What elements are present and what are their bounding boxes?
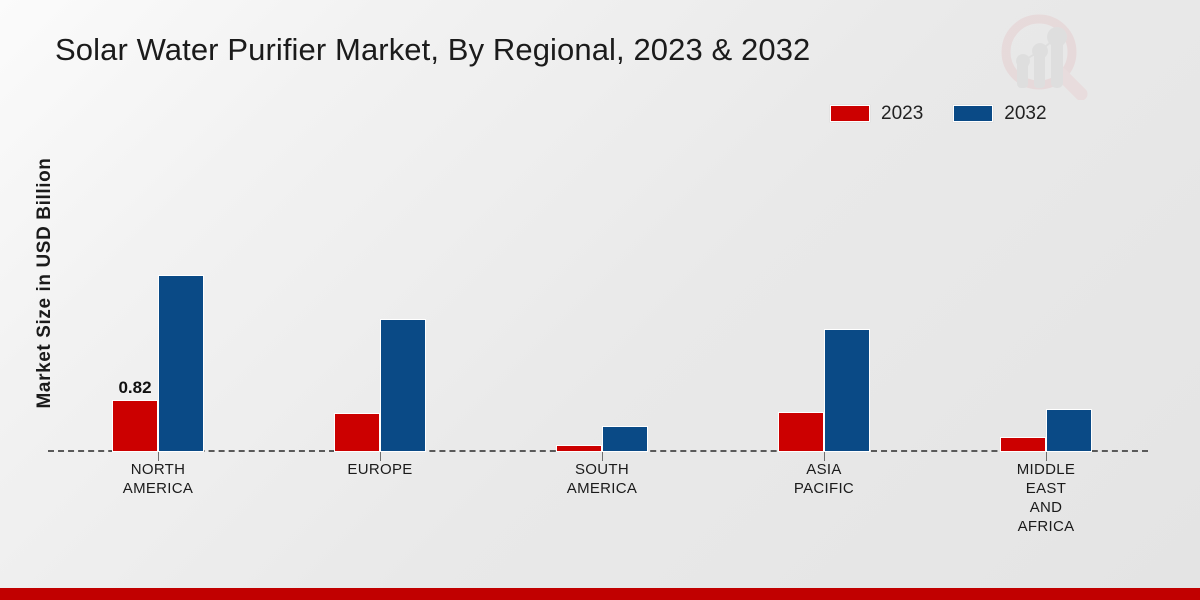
legend-item-2032[interactable]: 2032 xyxy=(953,104,1046,123)
legend-item-2023[interactable]: 2023 xyxy=(830,104,923,123)
x-axis-label-middle-east-and-africa: MIDDLE EAST AND AFRICA xyxy=(936,460,1156,536)
bar-group-middle-east-and-africa: MIDDLE EAST AND AFRICA xyxy=(936,140,1156,452)
legend-label-2032: 2032 xyxy=(1004,104,1046,123)
page-title: Solar Water Purifier Market, By Regional… xyxy=(55,32,810,68)
legend-label-2023: 2023 xyxy=(881,104,923,123)
bar-2032-north-america[interactable] xyxy=(158,275,204,452)
bar-2032-south-america[interactable] xyxy=(602,426,648,452)
legend-swatch-2032 xyxy=(953,105,993,122)
watermark-logo-icon xyxy=(995,8,1091,100)
bar-2023-south-america[interactable] xyxy=(556,445,602,452)
bar-2023-middle-east-and-africa[interactable] xyxy=(1000,437,1046,452)
bottom-accent-strip xyxy=(0,588,1200,600)
x-axis-label-europe: EUROPE xyxy=(270,460,490,479)
bar-group-europe: EUROPE xyxy=(270,140,490,452)
bar-2023-europe[interactable] xyxy=(334,413,380,452)
chart-canvas: Solar Water Purifier Market, By Regional… xyxy=(0,0,1200,600)
bar-group-south-america: SOUTH AMERICA xyxy=(492,140,712,452)
bar-group-asia-pacific: ASIA PACIFIC xyxy=(714,140,934,452)
x-axis-label-south-america: SOUTH AMERICA xyxy=(492,460,712,498)
plot-area: 0.82 NORTH AMERICA EUROPE xyxy=(48,140,1158,452)
bar-2023-north-america[interactable]: 0.82 xyxy=(112,400,158,452)
x-axis-label-asia-pacific: ASIA PACIFIC xyxy=(714,460,934,498)
bar-2023-asia-pacific[interactable] xyxy=(778,412,824,452)
x-axis-label-north-america: NORTH AMERICA xyxy=(48,460,268,498)
bar-2032-europe[interactable] xyxy=(380,319,426,452)
bar-value-label: 0.82 xyxy=(118,378,151,398)
legend-swatch-2023 xyxy=(830,105,870,122)
chart-legend: 2023 2032 xyxy=(830,104,1047,123)
bar-group-north-america: 0.82 NORTH AMERICA xyxy=(48,140,268,452)
bar-2032-asia-pacific[interactable] xyxy=(824,329,870,452)
bar-2032-middle-east-and-africa[interactable] xyxy=(1046,409,1092,452)
